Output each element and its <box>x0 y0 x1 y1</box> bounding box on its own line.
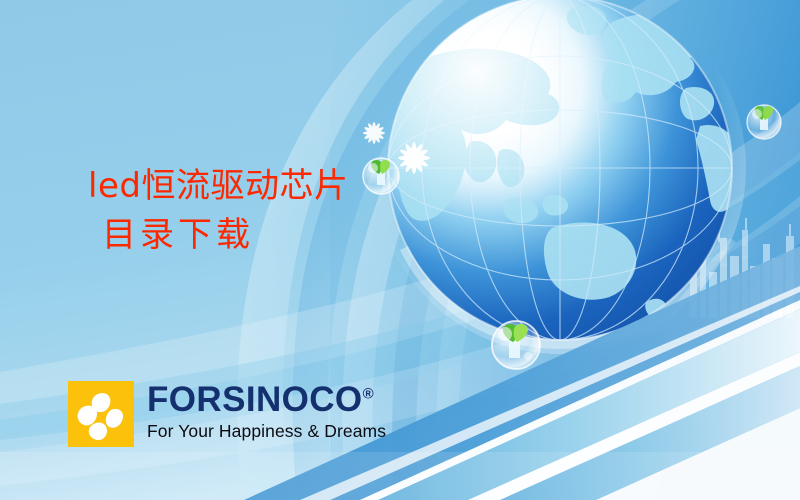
flower-petal-logo-icon <box>68 381 134 447</box>
logo-wordmark: FORSINOCO® <box>147 382 386 417</box>
promo-headline: led恒流驱动芯片 目录下载 <box>88 162 348 260</box>
company-logo[interactable]: FORSINOCO® For Your Happiness & Dreams <box>68 381 386 447</box>
headline-line-2: 目录下载 <box>88 211 348 260</box>
bubble-sprout-lower <box>492 321 540 369</box>
logo-wordmark-text: FORSINOCO <box>147 380 363 419</box>
logo-text-block: FORSINOCO® For Your Happiness & Dreams <box>147 382 386 442</box>
logo-tagline: For Your Happiness & Dreams <box>147 421 386 442</box>
promo-banner: led恒流驱动芯片 目录下载 FORSINOCO® For Your Happi… <box>0 0 800 500</box>
headline-line-1: led恒流驱动芯片 <box>88 162 348 211</box>
bubble-sprout-mid <box>363 158 399 194</box>
bubble-sprout-upper <box>747 105 781 139</box>
registered-trademark-symbol: ® <box>363 385 374 402</box>
